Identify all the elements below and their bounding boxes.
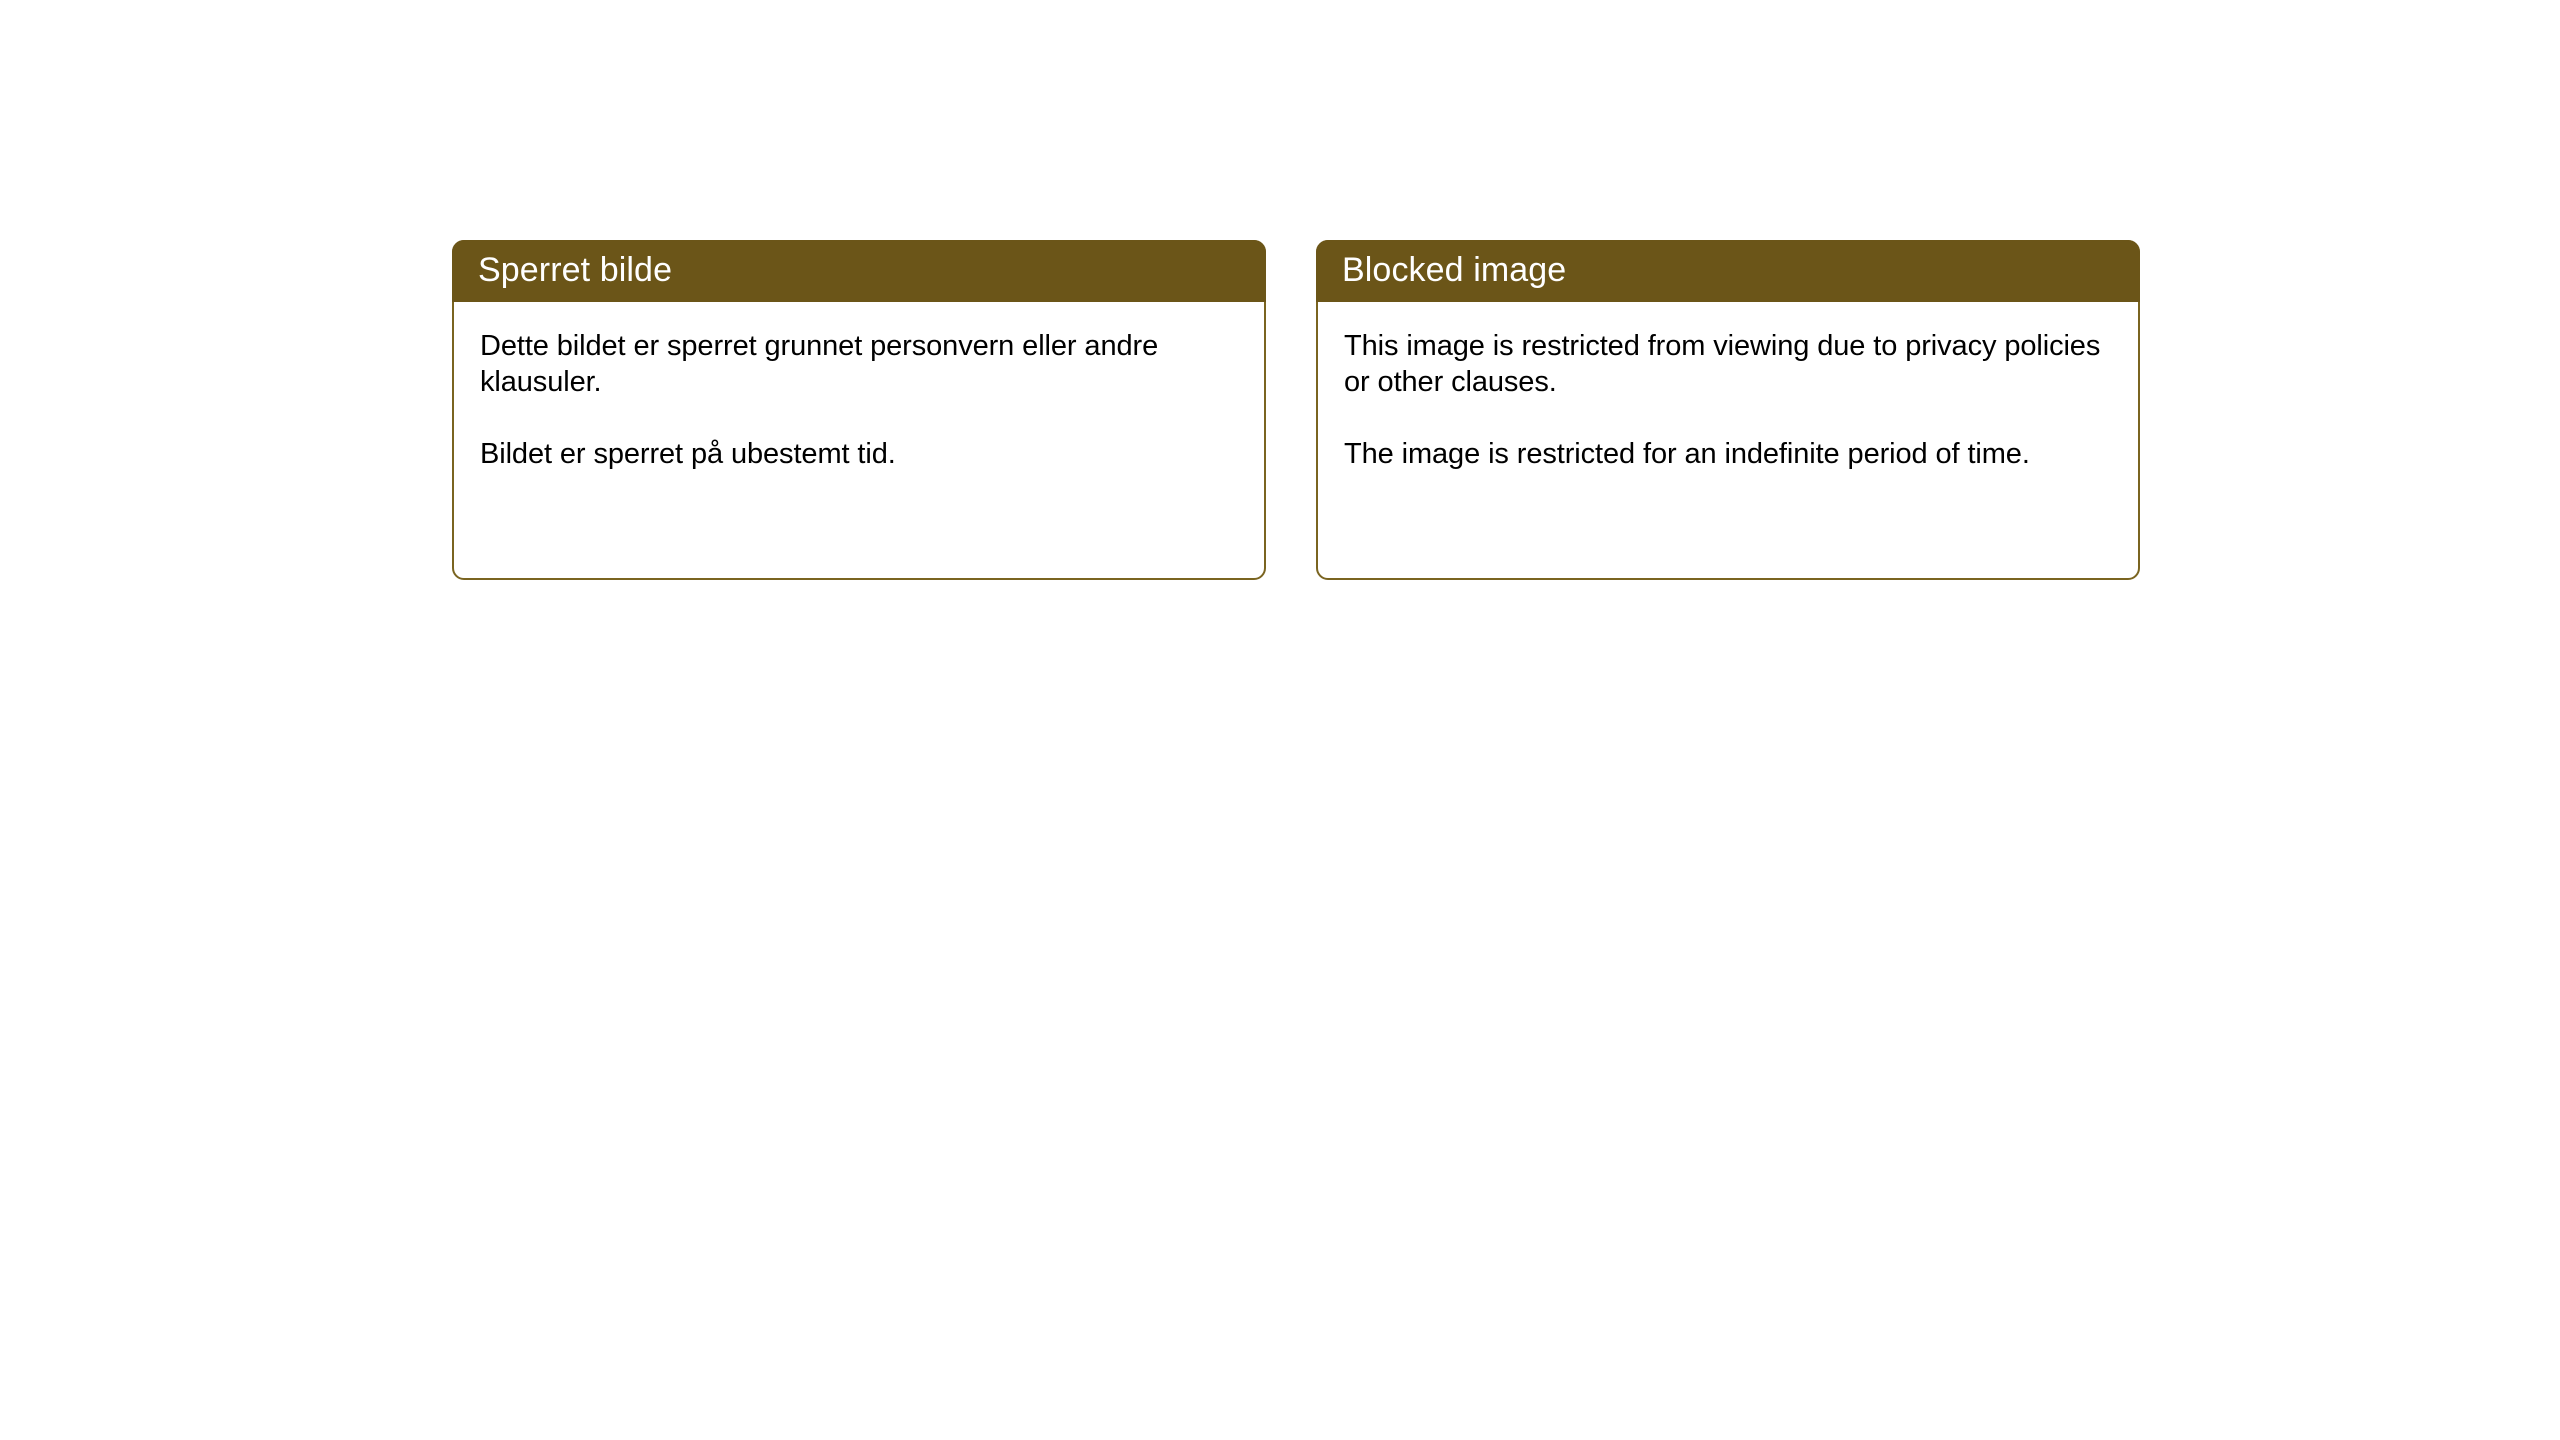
paragraph-spacer	[480, 400, 1236, 436]
blocked-image-notice-panel-norwegian: Sperret bilde Dette bildet er sperret gr…	[452, 240, 1266, 580]
panel-header-norwegian: Sperret bilde	[452, 240, 1266, 302]
page-canvas: Sperret bilde Dette bildet er sperret gr…	[0, 0, 2560, 1440]
panel-paragraph-norwegian-1: Dette bildet er sperret grunnet personve…	[480, 328, 1236, 400]
blocked-image-notice-panel-english: Blocked image This image is restricted f…	[1316, 240, 2140, 580]
panel-title-english: Blocked image	[1316, 253, 1566, 290]
panel-paragraph-english-2: The image is restricted for an indefinit…	[1344, 436, 2110, 472]
panel-body-english: This image is restricted from viewing du…	[1318, 302, 2138, 578]
panel-paragraph-norwegian-2: Bildet er sperret på ubestemt tid.	[480, 436, 1236, 472]
panel-body-norwegian: Dette bildet er sperret grunnet personve…	[454, 302, 1264, 578]
panel-title-norwegian: Sperret bilde	[452, 253, 672, 290]
panel-paragraph-english-1: This image is restricted from viewing du…	[1344, 328, 2110, 400]
paragraph-spacer	[1344, 400, 2110, 436]
panel-header-english: Blocked image	[1316, 240, 2140, 302]
